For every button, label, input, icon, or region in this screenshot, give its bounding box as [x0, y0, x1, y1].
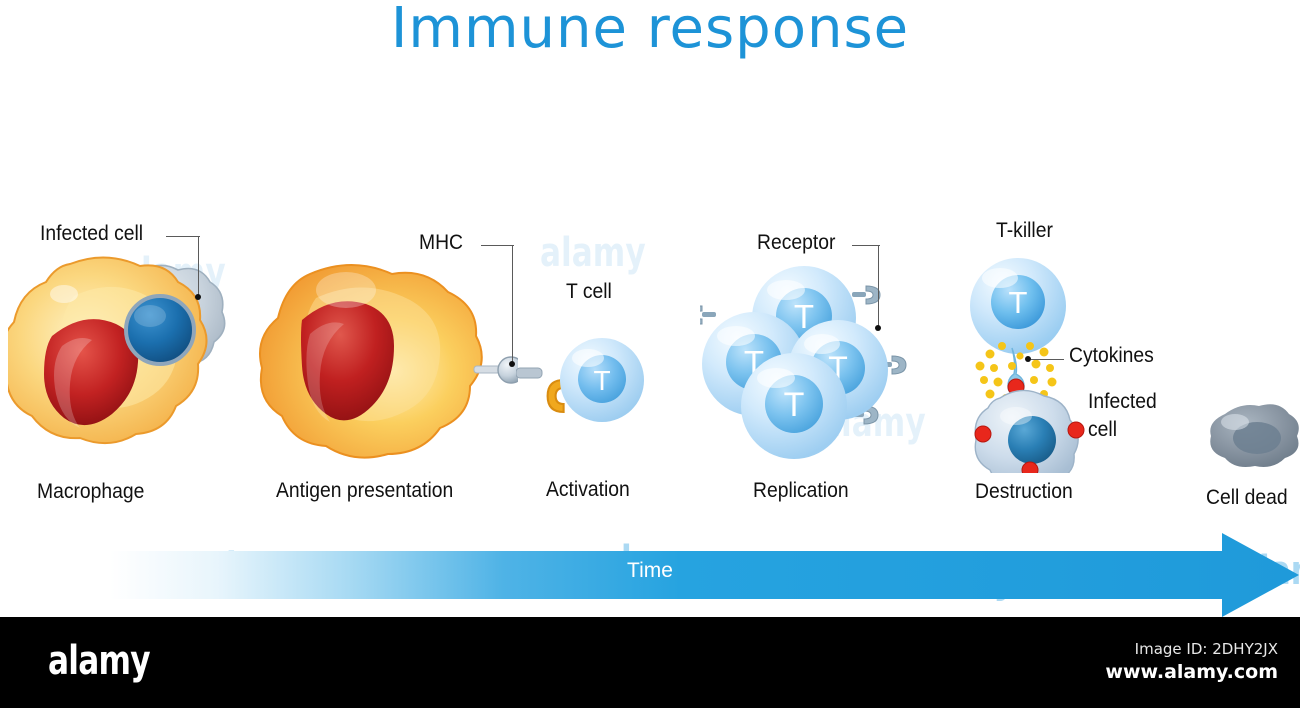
diagram-canvas: Immune response alamyalamyalamyalamyalam…	[0, 0, 1300, 708]
svg-text:T: T	[784, 386, 805, 424]
stage-label-replication: Replication	[753, 479, 849, 503]
alamy-logo: alamy	[48, 638, 150, 684]
stage-label-antigen-presentation: Antigen presentation	[276, 479, 453, 503]
t-cell-activation: T	[544, 332, 654, 428]
dead-cell	[1205, 398, 1300, 470]
t-killer-cell: T	[970, 258, 1066, 354]
page-title: Immune response	[0, 0, 1300, 61]
svg-text:T: T	[1009, 285, 1028, 320]
callout-label-t-cell: T cell	[566, 280, 612, 304]
leader-dot-infected-cell	[195, 294, 201, 300]
t-cell-letter: T	[593, 365, 610, 396]
stage-label-destruction: Destruction	[975, 480, 1073, 504]
leader-dot-cytokines	[1025, 356, 1031, 362]
antigen-presenting-cell	[258, 258, 518, 473]
leader-line-infected-cell-vertical	[198, 236, 199, 296]
stage-label-cell-dead: Cell dead	[1206, 486, 1288, 510]
macrophage-cell	[8, 250, 238, 475]
leader-line-infected-cell	[166, 236, 200, 237]
t-cell-cluster-replication: T T T T	[700, 258, 925, 463]
callout-label-infected-cell-2-line1: Infected	[1088, 390, 1157, 414]
image-id-text: Image ID: 2DHY2JX	[1135, 640, 1278, 658]
timeline-label: Time	[0, 559, 1300, 583]
leader-line-cytokines	[1031, 359, 1064, 360]
infected-cell-nucleus	[126, 296, 194, 364]
callout-label-infected-cell-2-line2: cell	[1088, 418, 1117, 442]
stage-label-macrophage: Macrophage	[37, 480, 144, 504]
mhc-molecule	[498, 357, 518, 383]
stage-label-activation: Activation	[546, 478, 630, 502]
timeline-arrow: Time	[0, 533, 1300, 618]
infected-cell-destruction	[975, 390, 1084, 473]
callout-label-t-killer: T-killer	[996, 219, 1053, 243]
callout-label-receptor: Receptor	[757, 231, 835, 255]
leader-line-receptor	[852, 245, 880, 246]
t-cell-replicated-4: T	[741, 353, 847, 459]
callout-label-infected-cell: Infected cell	[40, 222, 143, 246]
leader-line-mhc	[481, 245, 514, 246]
website-text: www.alamy.com	[1105, 661, 1278, 683]
leader-dot-mhc	[509, 361, 515, 367]
leader-dot-receptor	[875, 325, 881, 331]
callout-label-mhc: MHC	[419, 231, 463, 255]
leader-line-mhc-vertical	[512, 245, 513, 363]
callout-label-cytokines: Cytokines	[1069, 344, 1154, 368]
watermark-text: alamy	[540, 230, 646, 276]
leader-line-receptor-vertical	[878, 245, 879, 327]
